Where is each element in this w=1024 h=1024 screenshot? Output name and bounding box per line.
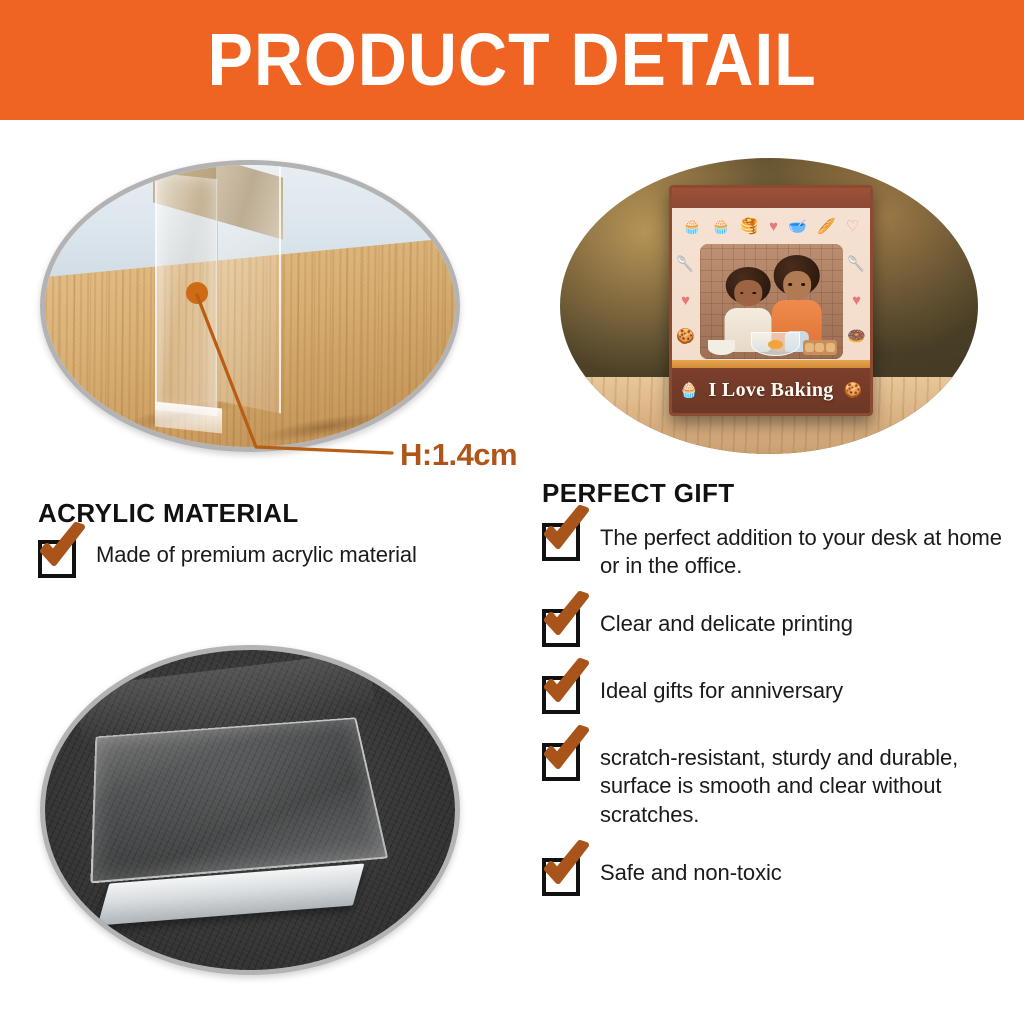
checkbox-icon	[38, 540, 76, 578]
block-side-face	[216, 160, 281, 414]
list-item-label: Ideal gifts for anniversary	[600, 673, 843, 705]
acrylic-block-on-wood-photo	[40, 160, 460, 452]
cookie-icon: 🍪	[676, 329, 695, 344]
acrylic-slab	[94, 714, 373, 919]
plaque-right-icon-column: 🥄 ♥ 🍩	[845, 246, 869, 354]
checkbox-icon	[542, 858, 580, 896]
baking-scene-art	[700, 244, 843, 359]
eye	[740, 292, 744, 295]
whisk-icon: 🥄	[676, 257, 695, 272]
plaque-art-window	[700, 244, 843, 359]
pastry-tray	[803, 340, 837, 355]
list-item-label: Made of premium acrylic material	[96, 537, 417, 569]
page-title: PRODUCT DETAIL	[207, 23, 816, 97]
heart-icon: ♥	[681, 293, 690, 308]
rolling-pin-icon: 🥖	[817, 219, 836, 234]
cupcake-icon: 🧁	[712, 219, 731, 234]
list-item: scratch-resistant, sturdy and durable, s…	[542, 740, 1010, 828]
list-item-label: Clear and delicate printing	[600, 606, 853, 638]
checkbox-icon	[542, 676, 580, 714]
adult-face	[783, 271, 811, 299]
product-detail-page: PRODUCT DETAIL H:1.4cm	[0, 0, 1024, 1024]
acrylic-slab-on-slate-photo	[40, 645, 460, 975]
plaque-title-banner: 🧁 I Love Baking 🍪	[672, 368, 871, 413]
wood-scene	[45, 165, 455, 447]
header-banner: PRODUCT DETAIL	[0, 0, 1024, 120]
list-item-label: Safe and non-toxic	[600, 855, 782, 887]
cupcake-icon: 🧁	[680, 383, 699, 398]
plaque-banner-text: I Love Baking	[709, 379, 834, 402]
list-item-label: scratch-resistant, sturdy and durable, s…	[600, 740, 1010, 828]
checkmark-icon	[540, 728, 592, 776]
perfect-gift-bullet-list: The perfect addition to your desk at hom…	[542, 520, 1010, 922]
slate-surface	[45, 650, 455, 970]
eye	[801, 283, 805, 286]
eye	[789, 283, 793, 286]
plaque-top-strip	[672, 188, 871, 208]
checkmark-icon	[540, 508, 592, 556]
checkmark-icon	[540, 594, 592, 642]
cupcake-icon: 🧁	[683, 219, 702, 234]
small-bowl	[708, 340, 735, 355]
list-item-label: The perfect addition to your desk at hom…	[600, 520, 1010, 580]
plaque-top-icon-row: 🧁 🧁 🥞 ♥ 🥣 🥖 ♡	[678, 210, 865, 244]
donut-icon: 🍩	[847, 329, 866, 344]
checkbox-icon	[542, 523, 580, 561]
pastry	[805, 343, 814, 353]
checkbox-icon	[542, 743, 580, 781]
glass-mixing-bowl	[751, 332, 800, 356]
printed-acrylic-plaque-photo: 🧁 🧁 🥞 ♥ 🥣 🥖 ♡ 🥄 ♥ 🍪 🥄 ♥ 🍩	[560, 158, 978, 454]
acrylic-block	[135, 160, 332, 436]
eye	[753, 292, 757, 295]
height-dimension-label: H:1.4cm	[400, 437, 517, 473]
list-item: The perfect addition to your desk at hom…	[542, 520, 1010, 580]
gift-plaque: 🧁 🧁 🥞 ♥ 🥣 🥖 ♡ 🥄 ♥ 🍪 🥄 ♥ 🍩	[669, 185, 874, 416]
egg-yolk	[768, 340, 783, 349]
heart-icon: ♥	[769, 219, 778, 234]
list-item: Safe and non-toxic	[542, 855, 1010, 896]
checkmark-icon	[540, 843, 592, 891]
checkmark-icon	[36, 525, 88, 573]
plaque-left-icon-column: 🥄 ♥ 🍪	[674, 246, 698, 354]
list-item: Made of premium acrylic material	[38, 537, 508, 578]
perfect-gift-heading: PERFECT GIFT	[542, 478, 735, 509]
list-item: Ideal gifts for anniversary	[542, 673, 1010, 714]
mixing-bowl-icon: 🥣	[788, 219, 807, 234]
slab-top-face	[91, 717, 389, 883]
whisk-icon: 🥄	[847, 257, 866, 272]
pancake-stack-icon: 🥞	[740, 219, 759, 234]
pastry	[815, 343, 824, 353]
kitchen-background: 🧁 🧁 🥞 ♥ 🥣 🥖 ♡ 🥄 ♥ 🍪 🥄 ♥ 🍩	[560, 158, 978, 454]
checkbox-icon	[542, 609, 580, 647]
cookie-icon: 🍪	[844, 383, 863, 398]
heart-icon: ♥	[852, 293, 861, 308]
list-item: Clear and delicate printing	[542, 606, 1010, 647]
heart-outline-icon: ♡	[846, 219, 859, 234]
thickness-callout-dot	[186, 282, 208, 304]
acrylic-material-bullet-list: Made of premium acrylic material	[38, 537, 508, 604]
checkmark-icon	[540, 661, 592, 709]
pastry	[826, 343, 835, 353]
plaque-gold-divider	[672, 360, 871, 368]
